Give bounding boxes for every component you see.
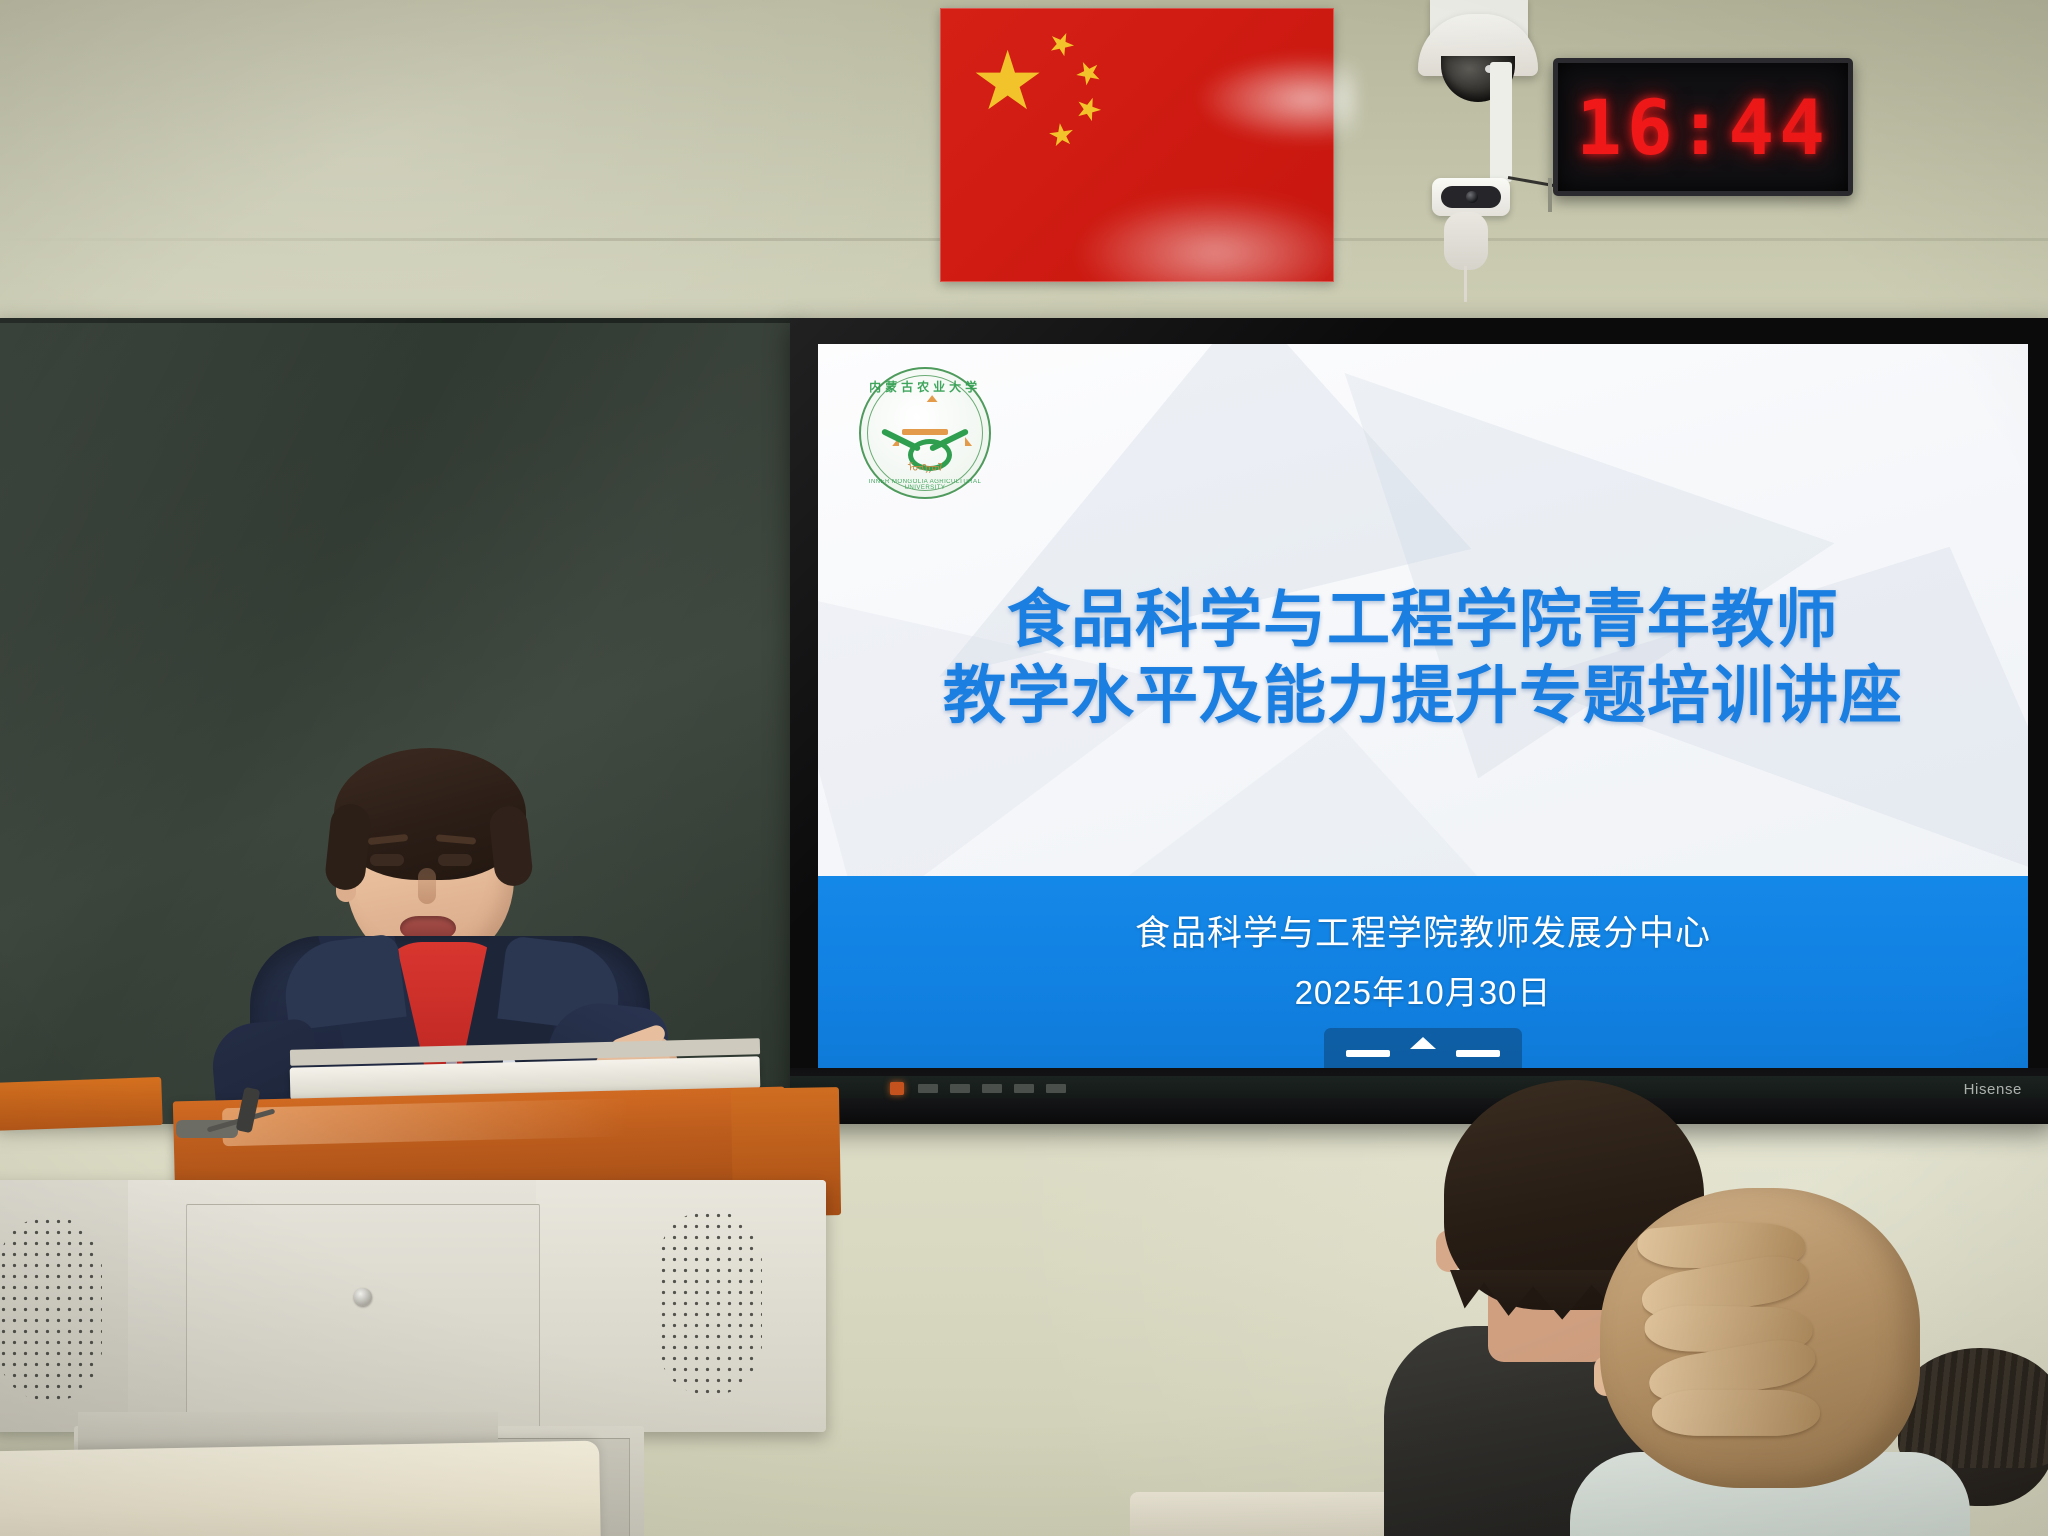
webcam-mount-arm [1444, 212, 1488, 270]
wall-clock: 16:44 [1553, 58, 1853, 196]
bezel-button-2[interactable] [950, 1084, 970, 1093]
display-bottom-bezel: Hisense [790, 1068, 2048, 1124]
toolbar-dash-right[interactable] [1456, 1050, 1500, 1057]
flag-star-1 [1045, 28, 1078, 60]
presentation-slide: 内蒙古农业大学 ᠮᠣᠩᠭᠣᠯ INNER MONGOLIA AGRICULTUR… [818, 344, 2028, 1068]
slide-title-line-1: 食品科学与工程学院青年教师 [818, 583, 2028, 659]
webcam-lens [1466, 191, 1478, 203]
bezel-button-4[interactable] [1014, 1084, 1034, 1093]
university-logo: 内蒙古农业大学 ᠮᠣᠩᠭᠣᠯ INNER MONGOLIA AGRICULTUR… [859, 367, 991, 499]
webcam-cord [1464, 266, 1467, 302]
student-desk [0, 1441, 601, 1536]
logo-mongolian-script: ᠮᠣᠩᠭᠣᠯ [890, 461, 960, 475]
bezel-button-3[interactable] [982, 1084, 1002, 1093]
podium-cabinet-door[interactable] [186, 1204, 540, 1434]
flag-glare-right [1192, 53, 1357, 145]
clock-time: 16:44 [1576, 83, 1830, 172]
bezel-button-5[interactable] [1046, 1084, 1066, 1093]
flag-glare-bottom [1074, 194, 1356, 292]
flag-star-4 [1047, 122, 1075, 150]
slide-date: 2025年10月30日 [818, 966, 2028, 1014]
slide-organizer: 食品科学与工程学院教师发展分中心 [818, 905, 2028, 956]
slide-title-line-2: 教学水平及能力提升专题培训讲座 [818, 659, 2028, 735]
display-screen[interactable]: 内蒙古农业大学 ᠮᠣᠩᠭᠣᠯ INNER MONGOLIA AGRICULTUR… [818, 344, 2028, 1068]
podium-lock-icon[interactable] [354, 1288, 372, 1306]
clock-cable [1548, 178, 1552, 212]
bezel-button-row[interactable] [918, 1084, 1066, 1093]
camera-wall-plate [1490, 62, 1512, 182]
audience-member-braided-hair [1600, 1188, 1980, 1536]
podium-speaker-grille-left [0, 1216, 102, 1402]
toolbar-dash-left[interactable] [1346, 1050, 1390, 1057]
presenter-hair [334, 748, 526, 880]
slide-title: 食品科学与工程学院青年教师 教学水平及能力提升专题培训讲座 [818, 583, 2028, 734]
interactive-flat-panel-display[interactable]: 内蒙古农业大学 ᠮᠣᠩᠭᠣᠯ INNER MONGOLIA AGRICULTUR… [790, 318, 2048, 1124]
logo-english-arc: INNER MONGOLIA AGRICULTURAL UNIVERSITY [860, 479, 991, 491]
podium-speaker-grille-right [658, 1210, 762, 1396]
hair-braid [1636, 1215, 1827, 1475]
chinese-national-flag [940, 8, 1334, 282]
chevron-up-icon[interactable] [1410, 1037, 1436, 1049]
flag-star-3 [1073, 94, 1105, 126]
display-brand-label: Hisense [1964, 1081, 2022, 1098]
power-led-indicator [890, 1082, 904, 1095]
on-screen-toolbar[interactable] [1324, 1028, 1522, 1068]
flag-star-large [974, 50, 1041, 115]
flag-star-2 [1071, 55, 1106, 90]
classroom-scene: 16:44 内蒙古农业大学 ᠮᠣᠩᠭᠣᠯ INNER MONGOLIA [0, 0, 2048, 1536]
logo-chinese-arc: 内蒙古农业大学 [861, 378, 989, 395]
bezel-button-1[interactable] [918, 1084, 938, 1093]
